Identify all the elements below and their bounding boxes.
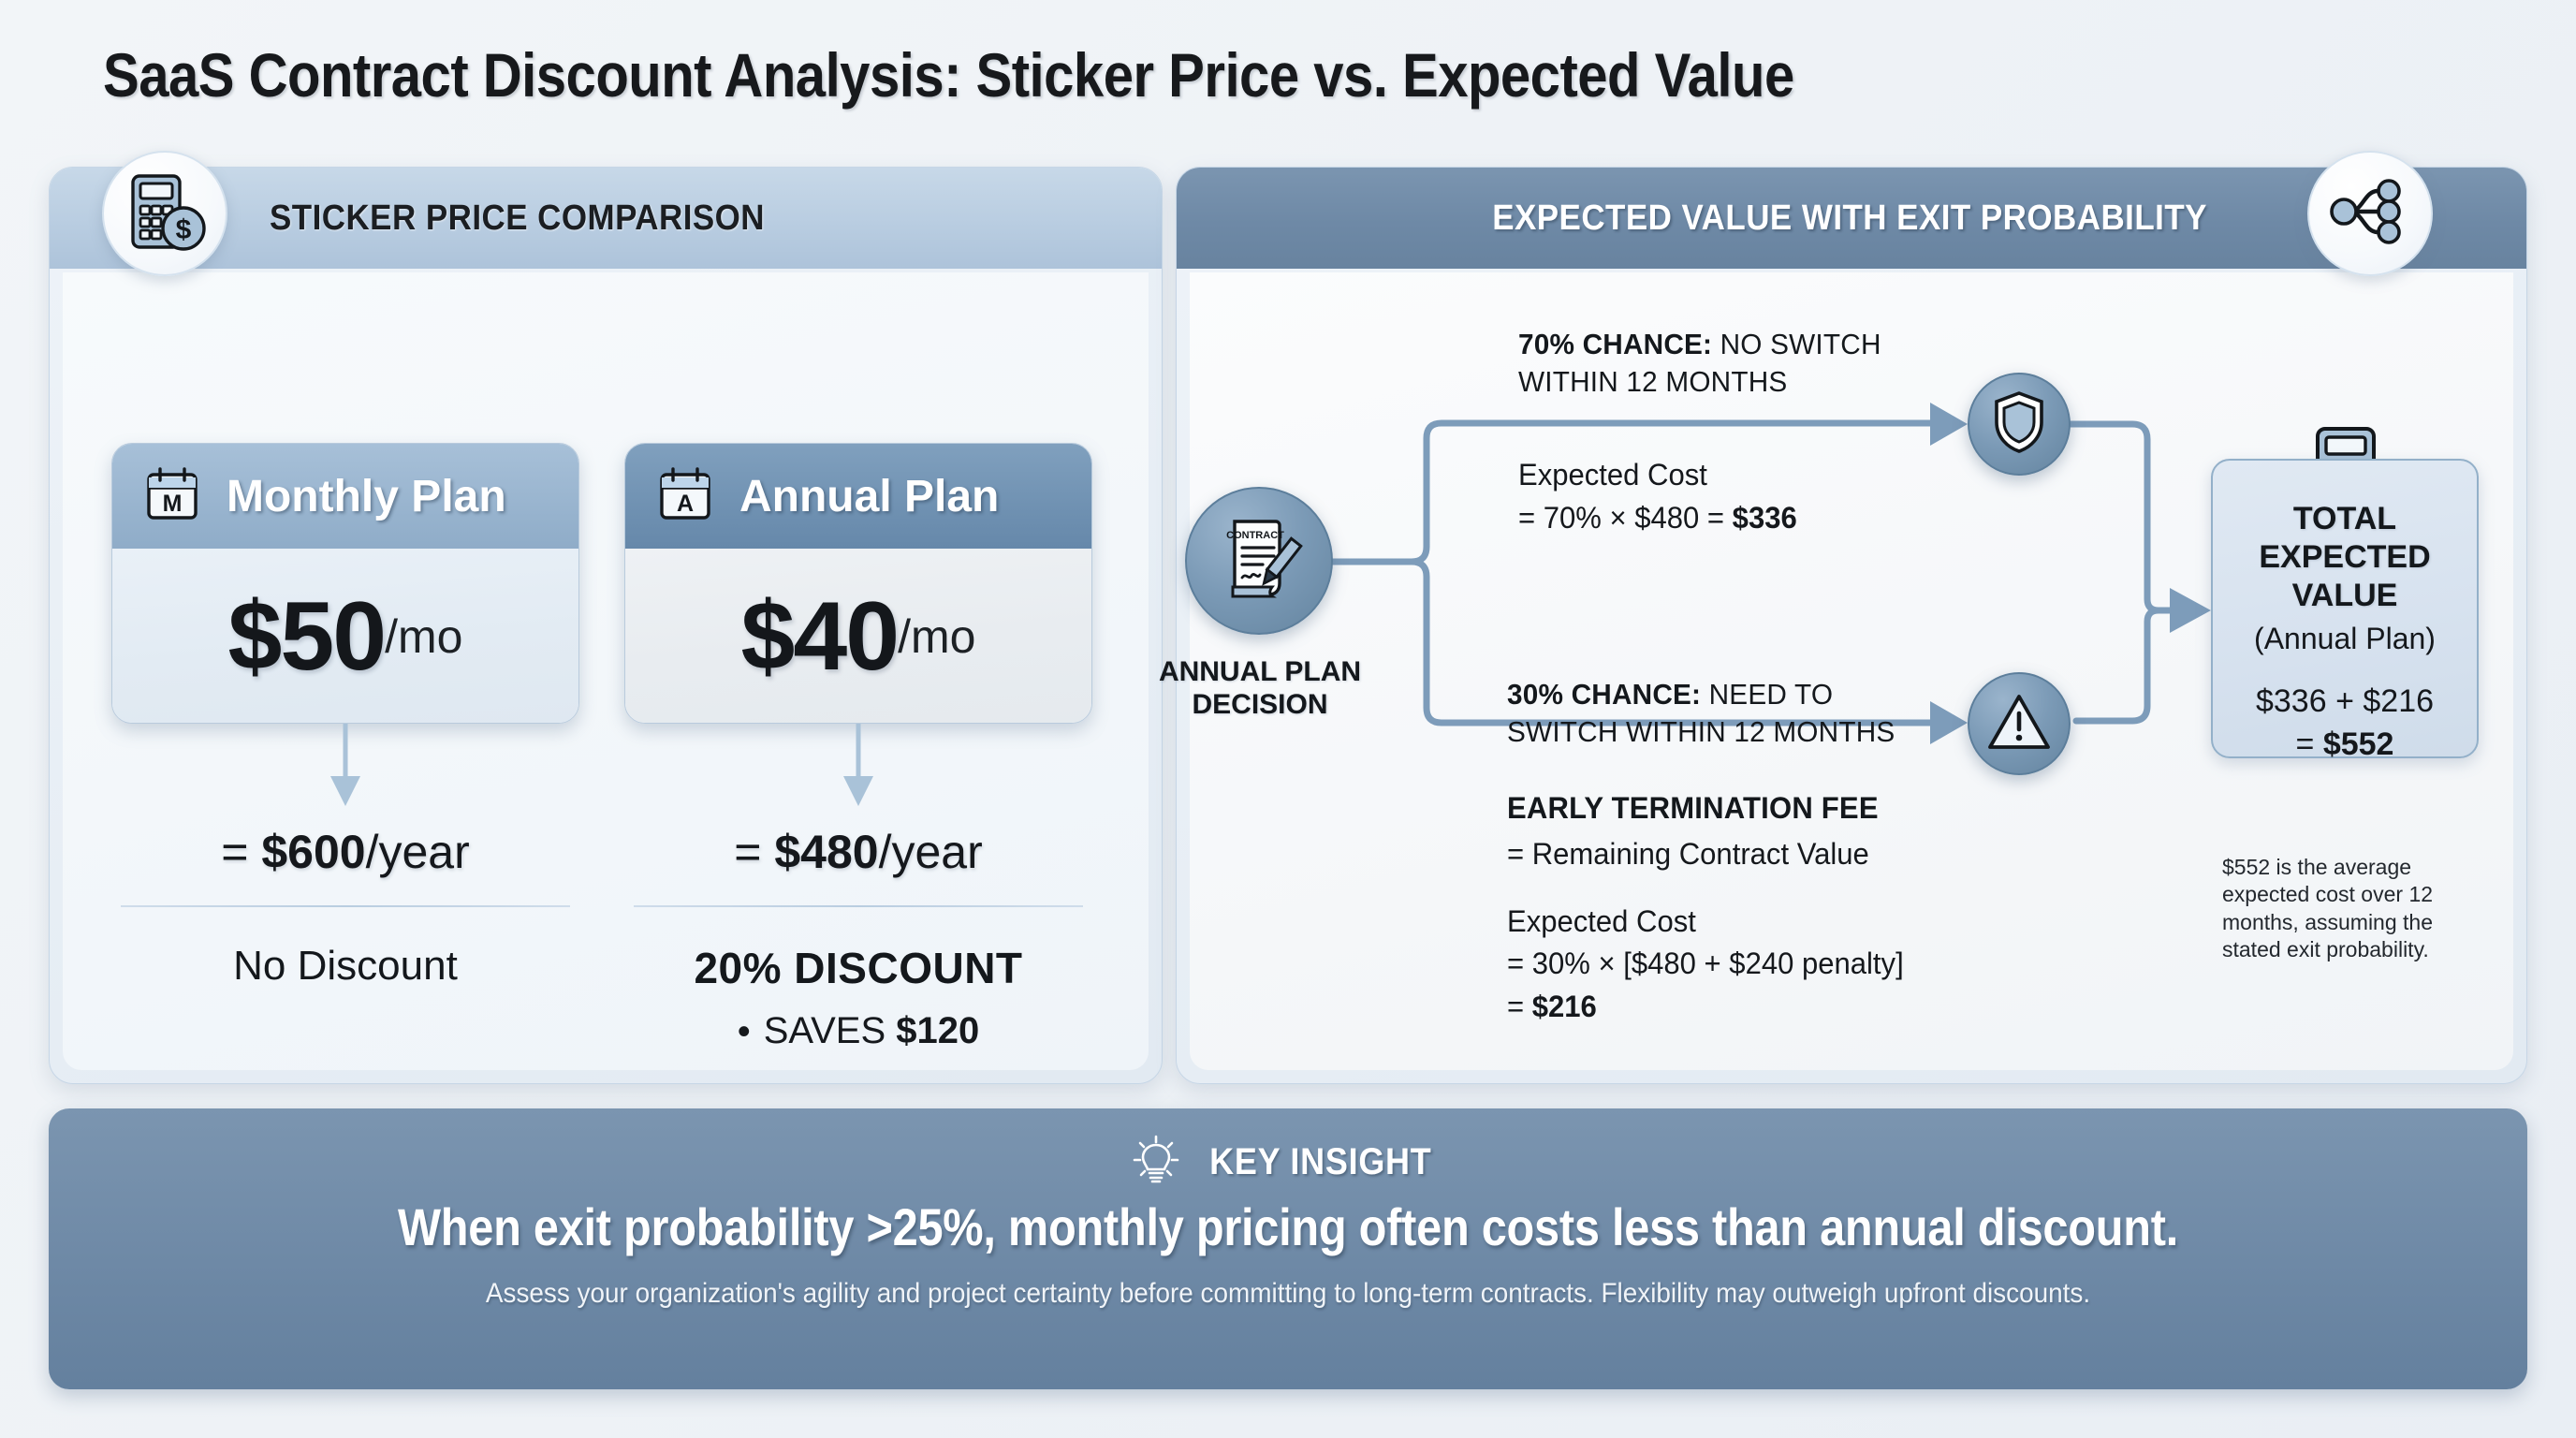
total-expected-value-note: $552 is the average expected cost over 1… bbox=[2222, 854, 2475, 964]
total-title-line1: TOTAL bbox=[2213, 500, 2477, 538]
early-termination-fee-detail: = Remaining Contract Value bbox=[1507, 833, 2015, 875]
lightbulb-icon bbox=[1132, 1134, 1180, 1191]
arrowhead-to-total bbox=[2170, 588, 2211, 633]
annual-plan-decision-label: ANNUAL PLAN DECISION bbox=[1148, 655, 1372, 722]
early-termination-fee-title: EARLY TERMINATION FEE bbox=[1507, 791, 2015, 826]
total-title-line3: VALUE bbox=[2213, 577, 2477, 615]
branch70-equation-plain: = 70% × $480 = bbox=[1518, 501, 1733, 535]
branch70-chance-rest: NO SWITCH bbox=[1712, 328, 1881, 360]
total-sum-line: $336 + $216 bbox=[2213, 681, 2477, 724]
branch70-equation-result: $336 bbox=[1733, 501, 1797, 535]
branch70-chance-bold: 70% CHANCE: bbox=[1518, 328, 1712, 360]
branch30-chance-line2: SWITCH WITHIN 12 MONTHS bbox=[1507, 715, 1895, 748]
contract-signature-icon: CONTRACT bbox=[1210, 510, 1308, 612]
decision-label-line1: ANNUAL PLAN bbox=[1148, 655, 1372, 688]
branch30-equation: = 30% × [$480 + $240 penalty] bbox=[1507, 943, 2015, 985]
branch-switch: 30% CHANCE: NEED TO SWITCH WITHIN 12 MON… bbox=[1507, 676, 2031, 1028]
key-insight-label: KEY INSIGHT bbox=[1209, 1141, 1431, 1183]
key-insight-headline: When exit probability >25%, monthly pric… bbox=[210, 1196, 2366, 1257]
branch-switch-calc: Expected Cost = 30% × [$480 + $240 penal… bbox=[1507, 901, 2015, 1028]
annual-plan-decision-node: CONTRACT bbox=[1185, 487, 1333, 635]
branch-switch-chance: 30% CHANCE: NEED TO SWITCH WITHIN 12 MON… bbox=[1507, 676, 2011, 750]
total-result-row: = $552 bbox=[2213, 724, 2477, 767]
svg-text:CONTRACT: CONTRACT bbox=[1226, 530, 1284, 541]
branch30-chance-rest: NEED TO bbox=[1701, 678, 1833, 711]
branch-no-switch-chance: 70% CHANCE: NO SWITCH WITHIN 12 MONTHS bbox=[1518, 326, 1985, 400]
total-result-value: $552 bbox=[2323, 726, 2394, 762]
branch30-chance-bold: 30% CHANCE: bbox=[1507, 678, 1701, 711]
total-expected-value-amounts: $336 + $216 = $552 bbox=[2213, 681, 2477, 767]
branch30-result-bold: $216 bbox=[1532, 990, 1597, 1023]
key-insight-subtext: Assess your organization's agility and p… bbox=[136, 1278, 2441, 1310]
infographic-canvas: SaaS Contract Discount Analysis: Sticker… bbox=[0, 0, 2576, 1438]
total-expected-value-subtitle: (Annual Plan) bbox=[2213, 622, 2477, 656]
branch30-result-plain: = bbox=[1507, 990, 1532, 1023]
key-insight-footer: KEY INSIGHT When exit probability >25%, … bbox=[49, 1108, 2527, 1389]
total-result-prefix: = bbox=[2296, 726, 2323, 762]
branch-no-switch-calc: Expected Cost = 70% × $480 = $336 bbox=[1518, 454, 1990, 539]
branch30-calc-label: Expected Cost bbox=[1507, 901, 2015, 943]
total-expected-value-title: TOTAL EXPECTED VALUE bbox=[2213, 500, 2477, 614]
total-title-line2: EXPECTED bbox=[2213, 538, 2477, 577]
branch70-chance-line2: WITHIN 12 MONTHS bbox=[1518, 365, 1787, 398]
decision-label-line2: DECISION bbox=[1148, 688, 1372, 721]
branch30-equation-result-row: = $216 bbox=[1507, 986, 2015, 1028]
branch-no-switch: 70% CHANCE: NO SWITCH WITHIN 12 MONTHS E… bbox=[1518, 326, 2005, 539]
key-insight-header-row: KEY INSIGHT bbox=[49, 1131, 2527, 1193]
branch70-calc-label: Expected Cost bbox=[1518, 454, 1990, 496]
branch70-calc-equation: = 70% × $480 = $336 bbox=[1518, 497, 1990, 539]
total-expected-value-box: TOTAL EXPECTED VALUE (Annual Plan) $336 … bbox=[2211, 459, 2479, 758]
